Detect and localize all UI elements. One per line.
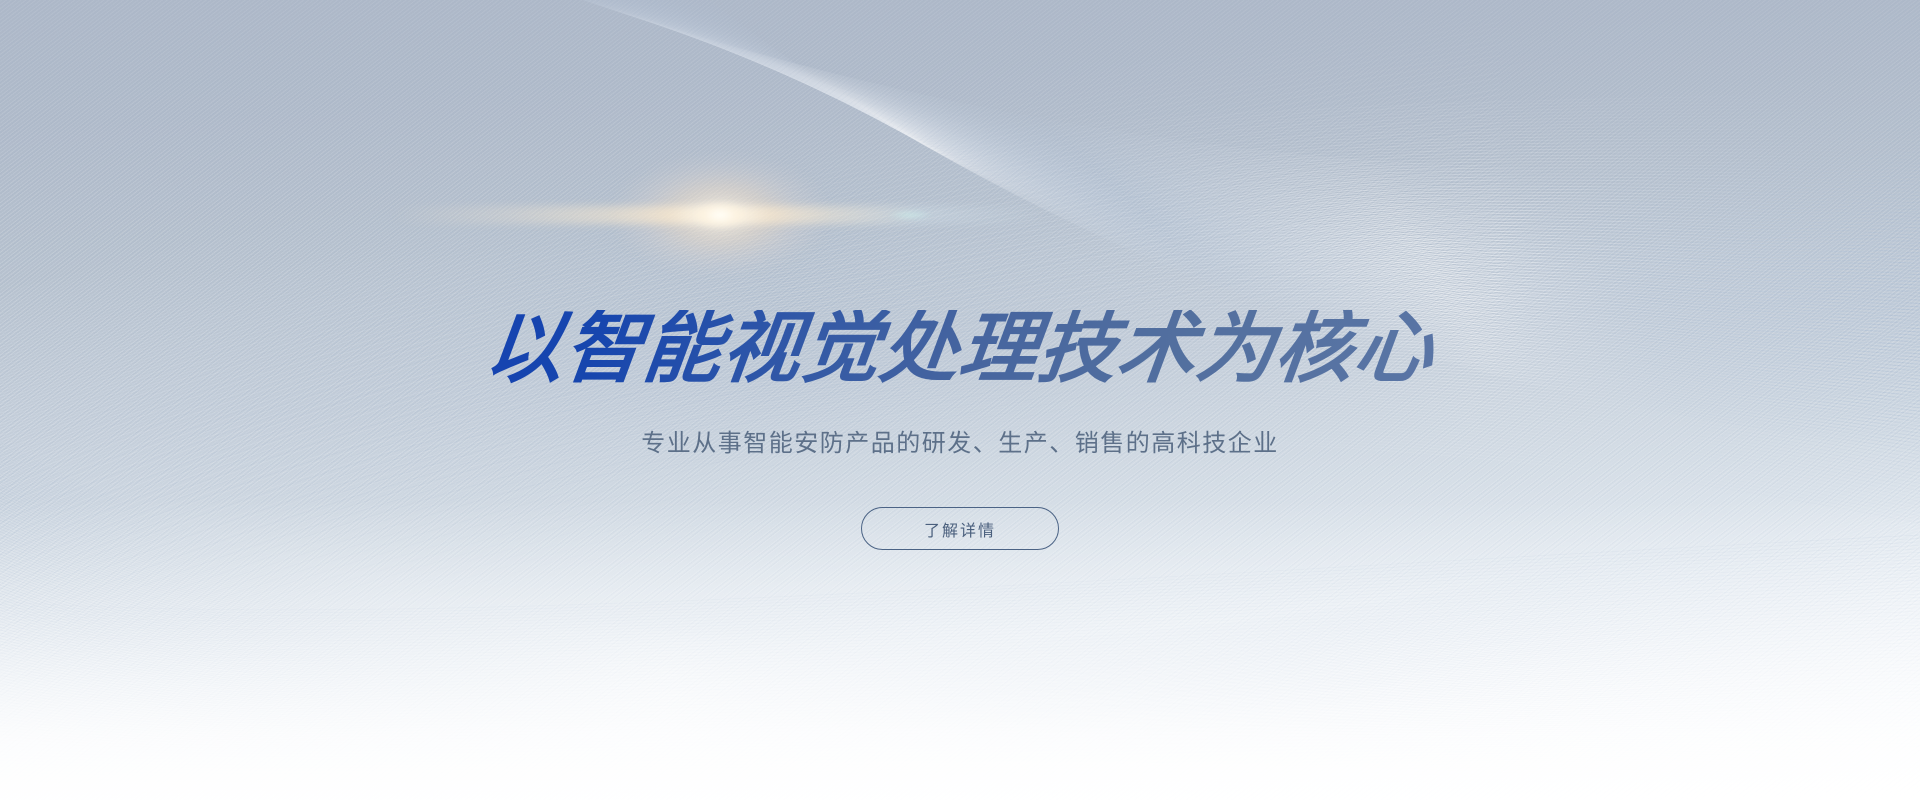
page-title: 以智能视觉处理技术为核心 xyxy=(0,310,1920,388)
hero-banner: 以智能视觉处理技术为核心 专业从事智能安防产品的研发、生产、销售的高科技企业 了… xyxy=(0,0,1920,800)
learn-more-button[interactable]: 了解详情 xyxy=(861,507,1059,550)
hero-subtitle: 专业从事智能安防产品的研发、生产、销售的高科技企业 xyxy=(0,427,1920,461)
background-line-art xyxy=(0,0,1920,800)
